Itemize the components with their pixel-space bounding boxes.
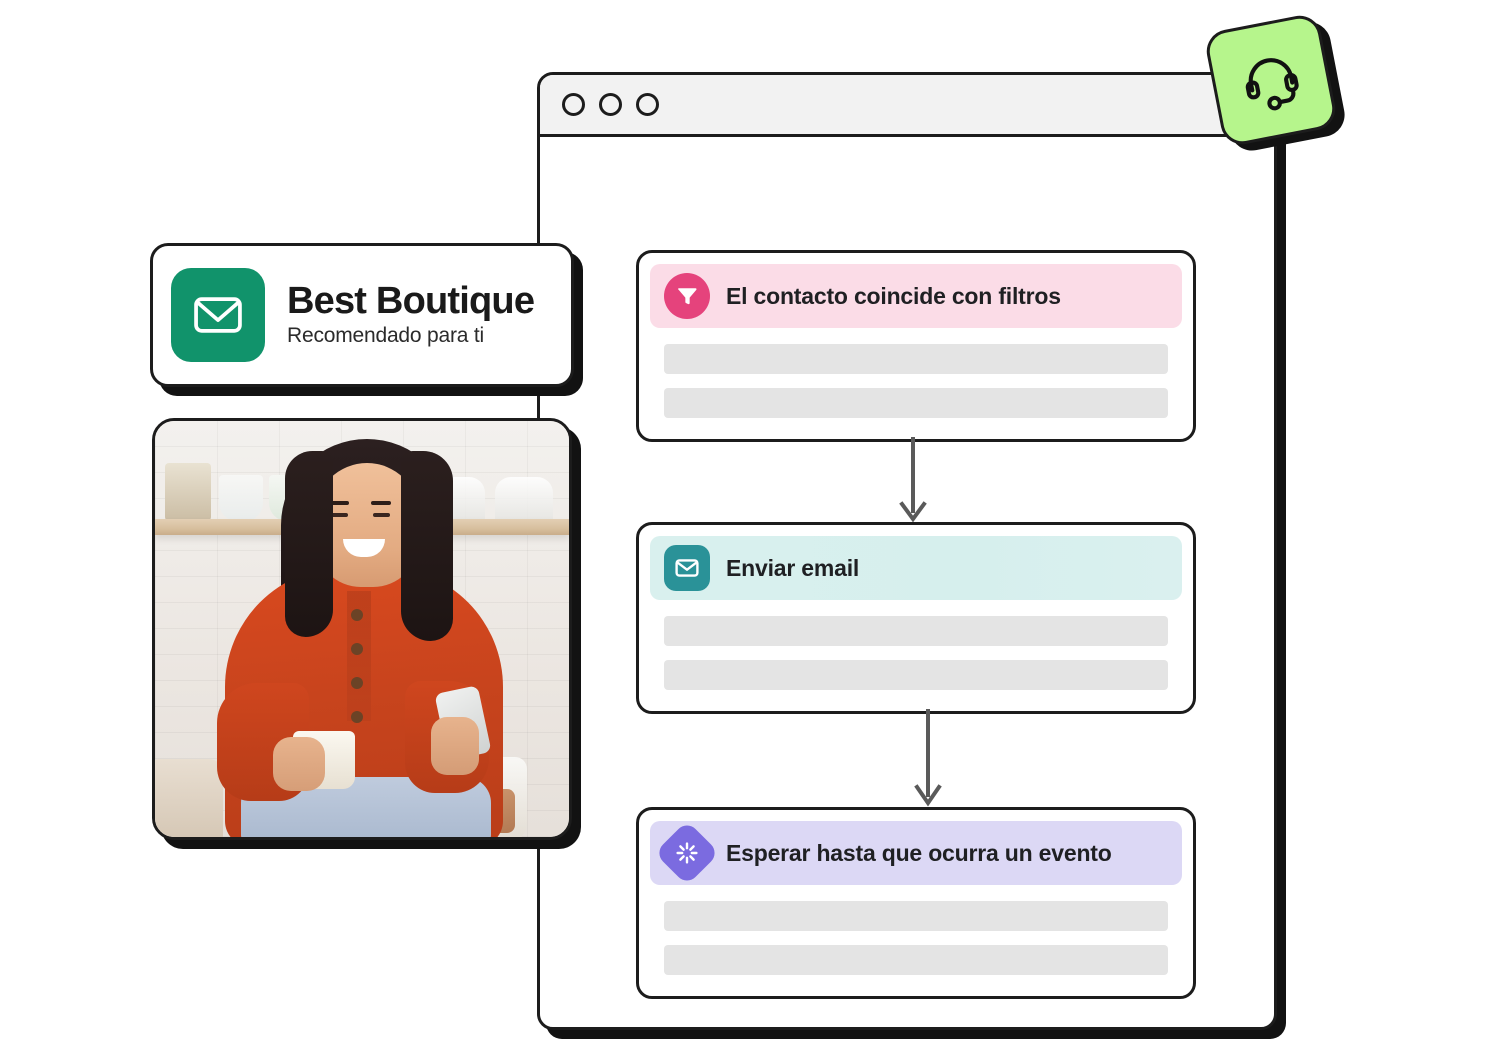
node-body-send-email	[650, 600, 1182, 700]
notification-subtitle: Recomendado para ti	[287, 324, 534, 348]
funnel-icon	[664, 273, 710, 319]
skeleton-row	[664, 616, 1168, 646]
skeleton-row	[664, 388, 1168, 418]
node-body-filter	[650, 328, 1182, 428]
illustration-stage: El contacto coincide con filtros	[0, 0, 1500, 1050]
workflow-node-filter[interactable]: El contacto coincide con filtros	[636, 250, 1196, 442]
workflow-node-wait-event[interactable]: Esperar hasta que ocurra un evento	[636, 807, 1196, 999]
envelope-icon	[171, 268, 265, 362]
skeleton-row	[664, 901, 1168, 931]
connector-filter-to-email	[898, 437, 928, 525]
workflow-canvas: El contacto coincide con filtros	[540, 137, 1274, 1027]
node-header-send-email: Enviar email	[650, 536, 1182, 600]
browser-titlebar	[540, 75, 1274, 137]
traffic-light-close-icon[interactable]	[562, 93, 585, 116]
skeleton-row	[664, 945, 1168, 975]
email-notification-card[interactable]: Best Boutique Recomendado para ti	[150, 243, 574, 387]
envelope-icon	[664, 545, 710, 591]
node-body-wait-event	[650, 885, 1182, 985]
node-title-send-email: Enviar email	[726, 555, 859, 582]
node-title-filter: El contacto coincide con filtros	[726, 283, 1061, 310]
workflow-node-send-email[interactable]: Enviar email	[636, 522, 1196, 714]
node-header-wait-event: Esperar hasta que ocurra un evento	[650, 821, 1182, 885]
traffic-light-minimize-icon[interactable]	[599, 93, 622, 116]
connector-email-to-wait	[913, 709, 943, 809]
notification-text: Best Boutique Recomendado para ti	[287, 282, 534, 348]
traffic-light-maximize-icon[interactable]	[636, 93, 659, 116]
woman-with-coffee-and-phone-photo	[155, 421, 569, 837]
headset-icon	[1232, 41, 1309, 118]
spinner-icon	[654, 820, 719, 885]
node-title-wait-event: Esperar hasta que ocurra un evento	[726, 840, 1112, 867]
lifestyle-photo-card	[152, 418, 572, 840]
skeleton-row	[664, 660, 1168, 690]
browser-window: El contacto coincide con filtros	[537, 72, 1277, 1030]
notification-title: Best Boutique	[287, 282, 534, 322]
support-headset-badge	[1203, 12, 1339, 148]
skeleton-row	[664, 344, 1168, 374]
node-header-filter: El contacto coincide con filtros	[650, 264, 1182, 328]
